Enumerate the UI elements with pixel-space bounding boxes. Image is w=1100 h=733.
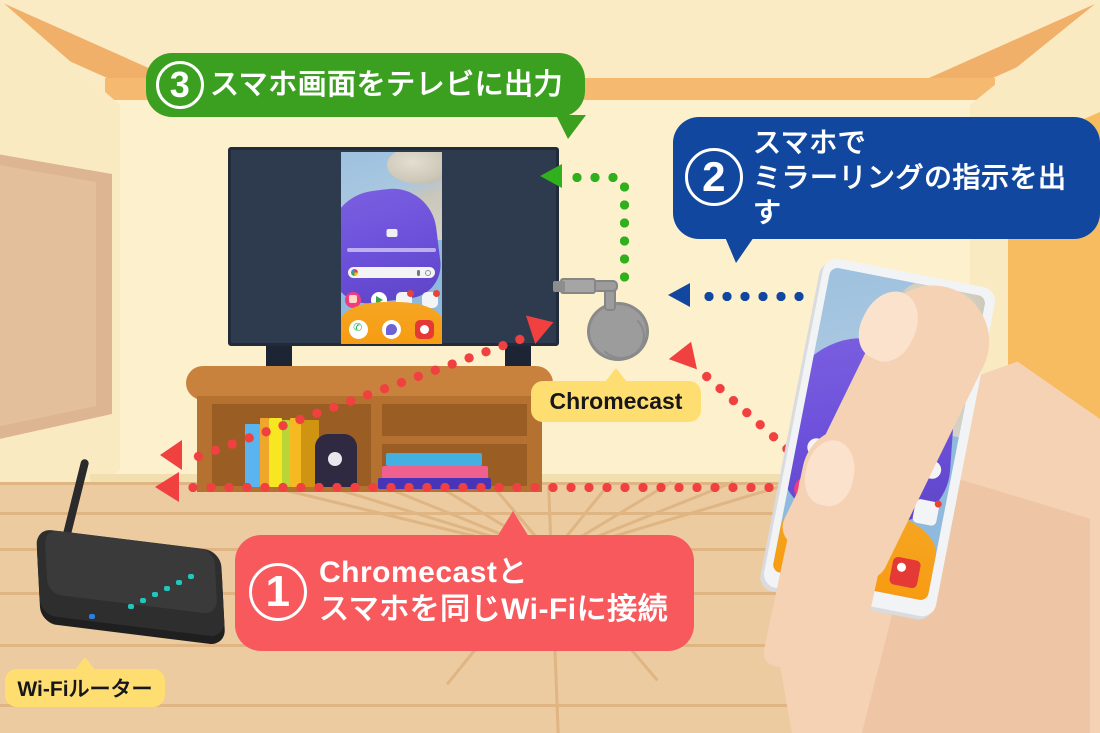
- callout-1-tail: [497, 511, 529, 537]
- callout-step-3: 3 スマホ画面をテレビに出力: [146, 53, 585, 117]
- arrowhead-left-blue: [668, 283, 690, 307]
- callout-3-text: スマホ画面をテレビに出力: [210, 70, 563, 100]
- connection-router-phone: [184, 483, 810, 492]
- google-icon: [351, 269, 358, 276]
- book: [290, 418, 301, 487]
- camera-icon: [889, 556, 922, 589]
- callout-3-number: 3: [156, 61, 204, 109]
- callout-3-tail: [556, 115, 586, 139]
- hdmi-plug-tip: [553, 281, 565, 292]
- callout-1-number: 1: [249, 563, 307, 621]
- chromecast-dongle: [587, 302, 649, 361]
- callout-2-number: 2: [685, 148, 743, 206]
- callout-step-2: 2 スマホで ミラーリングの指示を出す: [673, 117, 1100, 239]
- label-chromecast-text: Chromecast: [550, 388, 683, 415]
- callout-1-text: Chromecastと スマホを同じWi-Fiに接続: [319, 555, 668, 628]
- arrowhead-left-green: [540, 164, 562, 188]
- tv-foot-left: [266, 346, 292, 366]
- connection-phone-mirroring: [700, 292, 806, 301]
- callout-step-1: 1 Chromecastと スマホを同じWi-Fiに接続: [235, 535, 694, 651]
- dock-icon-row: [349, 320, 434, 339]
- label-wifi-router: Wi-Fiルーター: [5, 669, 165, 707]
- window-pane: [0, 162, 96, 430]
- camera-icon: [415, 320, 434, 339]
- illustration-scene: 3 スマホ画面をテレビに出力 2 スマホで ミラーリングの指示を出す 1 Chr…: [0, 0, 1100, 733]
- google-search-bar: [348, 267, 435, 278]
- router-led: [152, 592, 158, 597]
- router-led: [128, 604, 134, 609]
- label-wifi-router-text: Wi-Fiルーター: [17, 673, 152, 703]
- speaker: [315, 434, 357, 487]
- label-chromecast: Chromecast: [531, 381, 701, 422]
- label-notch: [75, 657, 95, 670]
- wallpaper-stone: [387, 152, 442, 184]
- router-led: [140, 598, 146, 603]
- router-led: [89, 614, 95, 619]
- tv-stand-shelf-line: [382, 436, 527, 444]
- callout-1-line-2: スマホを同じWi-Fiに接続: [319, 592, 668, 629]
- arrowhead-left-red: [160, 440, 182, 470]
- label-notch: [605, 368, 627, 382]
- tv-foot-right: [505, 346, 531, 366]
- tv-stand-divider: [371, 404, 382, 486]
- callout-3-line-1: スマホ画面をテレビに出力: [210, 70, 563, 100]
- app-dock: [341, 302, 442, 344]
- stacked-book: [386, 453, 482, 466]
- callout-2-tail: [725, 237, 754, 263]
- connection-chromecast-tv-horizontal: [568, 173, 626, 182]
- callout-2-line-2: ミラーリングの指示を出す: [753, 160, 1078, 230]
- messages-icon: [382, 320, 401, 339]
- router-led: [188, 574, 194, 579]
- router-led: [176, 580, 182, 585]
- microphone-icon: [417, 270, 420, 276]
- callout-2-text: スマホで ミラーリングの指示を出す: [753, 125, 1078, 230]
- phone-icon: [349, 320, 368, 339]
- connection-chromecast-tv-vertical: [620, 178, 629, 288]
- lens-icon: [425, 270, 431, 276]
- widget-text: [347, 248, 436, 252]
- tv-mirrored-phone-screen: [341, 152, 442, 344]
- hdmi-plug: [560, 278, 596, 294]
- widget-icon: [386, 229, 397, 237]
- router-led: [164, 586, 170, 591]
- arrowhead-left-red-2: [155, 472, 179, 502]
- callout-1-line-1: Chromecastと: [319, 555, 668, 592]
- callout-2-line-1: スマホで: [753, 125, 1078, 160]
